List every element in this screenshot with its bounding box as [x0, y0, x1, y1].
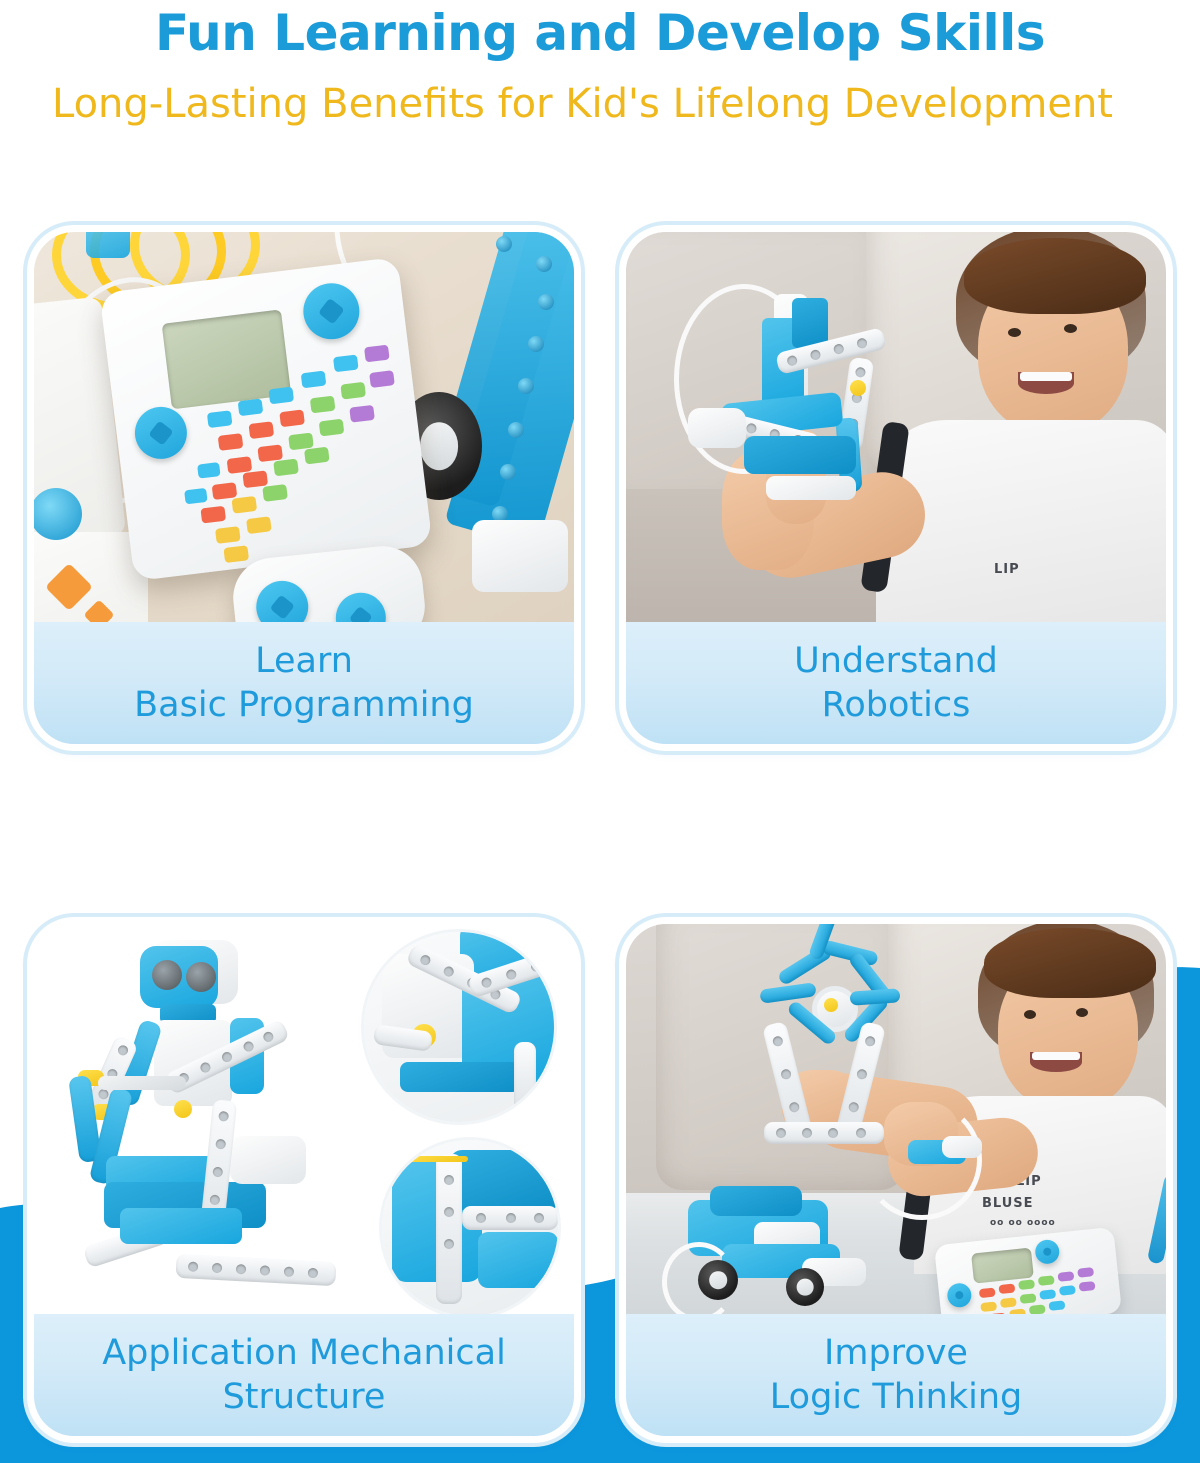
card-caption-application-mechanical-structure: Application Mechanical Structure — [34, 1314, 574, 1436]
benefit-card-grid: Learn Basic Programming — [0, 232, 1200, 1436]
benefit-card-learn-basic-programming[interactable]: Learn Basic Programming — [34, 232, 574, 744]
card-image-robot-build-detail — [34, 924, 574, 1314]
caption-line: Basic Programming — [134, 683, 474, 727]
card-image-boy-holding-robot: LIP — [626, 232, 1166, 622]
caption-line: Improve — [824, 1331, 968, 1375]
detail-inset-upper — [364, 932, 554, 1122]
card-caption-improve-logic-thinking: Improve Logic Thinking — [626, 1314, 1166, 1436]
card-image-programming-remote — [34, 232, 574, 622]
benefit-card-row-1: Learn Basic Programming — [0, 232, 1200, 744]
benefit-card-application-mechanical-structure[interactable]: Application Mechanical Structure — [34, 924, 574, 1436]
card-caption-learn-basic-programming: Learn Basic Programming — [34, 622, 574, 744]
caption-line: Understand — [794, 639, 998, 683]
benefit-card-understand-robotics[interactable]: LIP — [626, 232, 1166, 744]
benefit-card-improve-logic-thinking[interactable]: LIP BLUSE oo oo oooo — [626, 924, 1166, 1436]
page-title: Fun Learning and Develop Skills — [0, 0, 1200, 61]
caption-line: Robotics — [822, 683, 971, 727]
caption-line: Structure — [223, 1375, 386, 1419]
card-image-boy-with-ferris-wheel: LIP BLUSE oo oo oooo — [626, 924, 1166, 1314]
page-subtitle: Long-Lasting Benefits for Kid's Lifelong… — [0, 61, 1200, 130]
caption-line: Application Mechanical — [102, 1331, 506, 1375]
caption-line: Logic Thinking — [770, 1375, 1022, 1419]
detail-inset-lower — [382, 1140, 558, 1314]
card-caption-understand-robotics: Understand Robotics — [626, 622, 1166, 744]
benefit-card-row-2: Application Mechanical Structure — [0, 924, 1200, 1436]
header: Fun Learning and Develop Skills Long-Las… — [0, 0, 1200, 130]
caption-line: Learn — [255, 639, 353, 683]
